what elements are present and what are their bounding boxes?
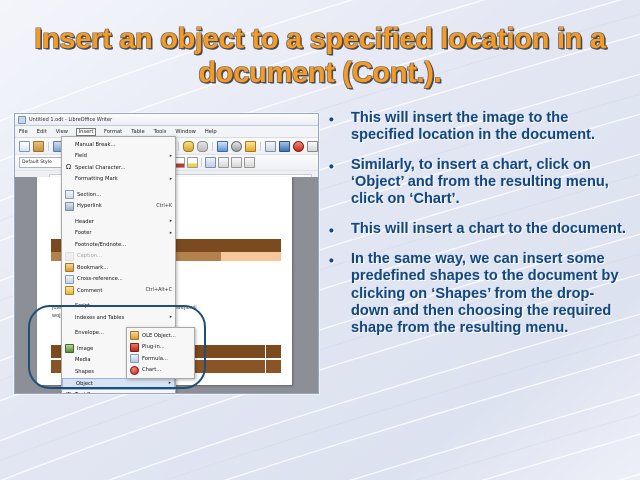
menu-item-label: Script... [75,303,172,309]
bullet-marker: • [329,222,334,238]
document-image-bar-light [221,252,281,261]
chart-icon [130,366,139,375]
bullet-item: • This will insert the image to the spec… [327,110,627,144]
menu-item-label: Footer [75,230,166,236]
bullet-text: This will insert a chart to the document… [351,221,626,237]
chevron-right-icon: ▸ [170,154,172,159]
align-left-icon[interactable] [205,157,216,168]
formula-icon [130,354,139,363]
menu-item-label: Footnote/Endnote... [75,242,172,248]
menu-item-comment[interactable]: Comment Ctrl+Alt+C [62,285,175,297]
undo-icon[interactable] [183,141,194,152]
ole-object-icon [130,331,139,340]
submenu-item-label: Plug-in... [142,344,191,350]
menu-item-bookmark[interactable]: Bookmark... [62,262,175,274]
submenu-item-ole-object[interactable]: OLE Object... [127,330,194,342]
blank-icon [65,141,72,148]
blank-icon [65,230,72,237]
menu-item-label: Special Character... [75,165,172,171]
insert-text-box-icon[interactable] [307,141,318,152]
menu-view[interactable]: View [55,129,69,135]
menu-window[interactable]: Window [174,129,196,135]
blank-icon [65,314,72,321]
bullet-item: • This will insert a chart to the docume… [327,221,627,238]
menu-item-label: Text Box [75,392,172,394]
menu-item-indexes-and-tables[interactable]: Indexes and Tables ▸ [62,312,175,324]
menu-item-label: Caption... [77,253,172,259]
comment-icon [65,286,74,295]
blank-icon [65,330,72,337]
menu-item-shortcut: Ctrl+Alt+C [146,288,172,293]
toolbar-separator [48,142,49,151]
menu-table[interactable]: Table [130,129,145,135]
menu-help[interactable]: Help [204,129,218,135]
menu-item-hyperlink[interactable]: Hyperlink Ctrl+K [62,201,175,213]
window-title: Untitled 1.odt - LibreOffice Writer [29,117,112,123]
blank-icon [65,153,72,160]
libreoffice-writer-screenshot: Untitled 1.odt - LibreOffice Writer File… [14,113,319,394]
omega-icon: Ω [65,164,72,171]
spelling-icon[interactable] [217,141,228,152]
menu-item-label: Hyperlink [77,203,152,209]
submenu-item-chart[interactable]: Chart... [127,365,194,377]
justify-icon[interactable] [244,157,255,168]
blank-icon [65,176,72,183]
submenu-item-label: Formula... [142,356,191,362]
section-icon [65,190,74,199]
highlight-color-icon[interactable] [187,157,198,168]
menu-file[interactable]: File [18,129,29,135]
menu-item-field[interactable]: Field ▸ [62,151,175,163]
submenu-item-label: Chart... [142,367,191,373]
plugin-icon [130,343,139,352]
hyperlink-icon [65,202,74,211]
cross-reference-icon [65,275,74,284]
bullet-text: This will insert the image to the specif… [351,110,595,143]
bullet-item: • In the same way, we can insert some pr… [327,251,627,336]
bullet-text: In the same way, we can insert some pred… [351,251,619,335]
menu-item-text-box[interactable]: T Text Box [62,390,175,395]
text-box-icon: T [65,392,72,394]
insert-chart-icon[interactable] [293,141,304,152]
caption-icon [65,252,74,261]
insert-table-icon[interactable] [265,141,276,152]
menu-item-section[interactable]: Section... [62,189,175,201]
menu-item-special-character[interactable]: Ω Special Character... [62,162,175,174]
menu-item-label: Field [75,153,166,159]
menu-tools[interactable]: Tools [153,129,168,135]
menu-item-cross-reference[interactable]: Cross-reference... [62,274,175,286]
bullet-list: • This will insert the image to the spec… [327,110,627,350]
menu-item-label: Indexes and Tables [75,315,166,321]
menu-item-label: Bookmark... [77,265,172,271]
menu-item-label: Comment [77,288,142,294]
menu-item-object[interactable]: Object ▸ [62,378,175,390]
menu-edit[interactable]: Edit [36,129,48,135]
bullet-text: Similarly, to insert a chart, click on ‘… [351,157,609,207]
menu-format[interactable]: Format [103,129,123,135]
paragraph-style-box[interactable]: Default Style [19,157,65,168]
toolbar-separator [212,142,213,151]
bullet-marker: • [329,111,334,127]
menu-item-caption: Caption... [62,251,175,263]
menu-item-manual-break[interactable]: Manual Break... [62,139,175,151]
toolbar-separator [178,142,179,151]
object-submenu[interactable]: OLE Object... Plug-in... Formula... Char… [126,327,195,379]
menu-item-formatting-mark[interactable]: Formatting Mark ▸ [62,174,175,186]
menu-item-label: Section... [77,192,172,198]
bookmark-icon [65,263,74,272]
formatting-marks-icon[interactable] [245,141,256,152]
bullet-marker: • [329,252,334,268]
menu-item-label: Cross-reference... [77,276,172,282]
toolbar-separator [201,158,202,167]
open-icon[interactable] [33,141,44,152]
menu-item-label: Formatting Mark [75,176,166,182]
slide-canvas: Insert an object to a specified location… [0,0,640,480]
redo-icon[interactable] [197,141,208,152]
blank-icon [65,368,72,375]
menu-item-label: Manual Break... [75,142,172,148]
menu-item-shortcut: Ctrl+K [156,204,172,209]
chevron-right-icon: ▸ [170,219,172,224]
chevron-right-icon: ▸ [169,381,171,386]
image-icon [65,344,74,353]
chevron-right-icon: ▸ [170,315,172,320]
toolbar-separator [260,142,261,151]
insert-image-icon[interactable] [279,141,290,152]
new-document-icon[interactable] [19,141,30,152]
menu-item-script[interactable]: Script... [62,301,175,313]
chevron-right-icon: ▸ [170,231,172,236]
menu-item-footer[interactable]: Footer ▸ [62,228,175,240]
align-center-icon[interactable] [218,157,229,168]
menu-item-label: Object [76,381,165,387]
bullet-item: • Similarly, to insert a chart, click on… [327,157,627,208]
blank-icon [66,380,73,387]
blank-icon [65,357,72,364]
find-replace-icon[interactable] [231,141,242,152]
submenu-item-formula[interactable]: Formula... [127,353,194,365]
menu-item-header[interactable]: Header ▸ [62,216,175,228]
menu-item-footnote-endnote[interactable]: Footnote/Endnote... [62,239,175,251]
window-title-bar: Untitled 1.odt - LibreOffice Writer [15,114,318,126]
blank-icon [65,303,72,310]
menu-insert[interactable]: Insert [76,128,96,136]
submenu-item-label: OLE Object... [142,333,191,339]
slide-title: Insert an object to a specified location… [28,22,612,90]
chevron-right-icon: ▸ [170,177,172,182]
menu-item-label: Header [75,219,166,225]
bullet-marker: • [329,158,334,174]
blank-icon [65,241,72,248]
align-right-icon[interactable] [231,157,242,168]
writer-document-icon [18,116,26,124]
blank-icon [65,218,72,225]
submenu-item-plugin[interactable]: Plug-in... [127,342,194,354]
